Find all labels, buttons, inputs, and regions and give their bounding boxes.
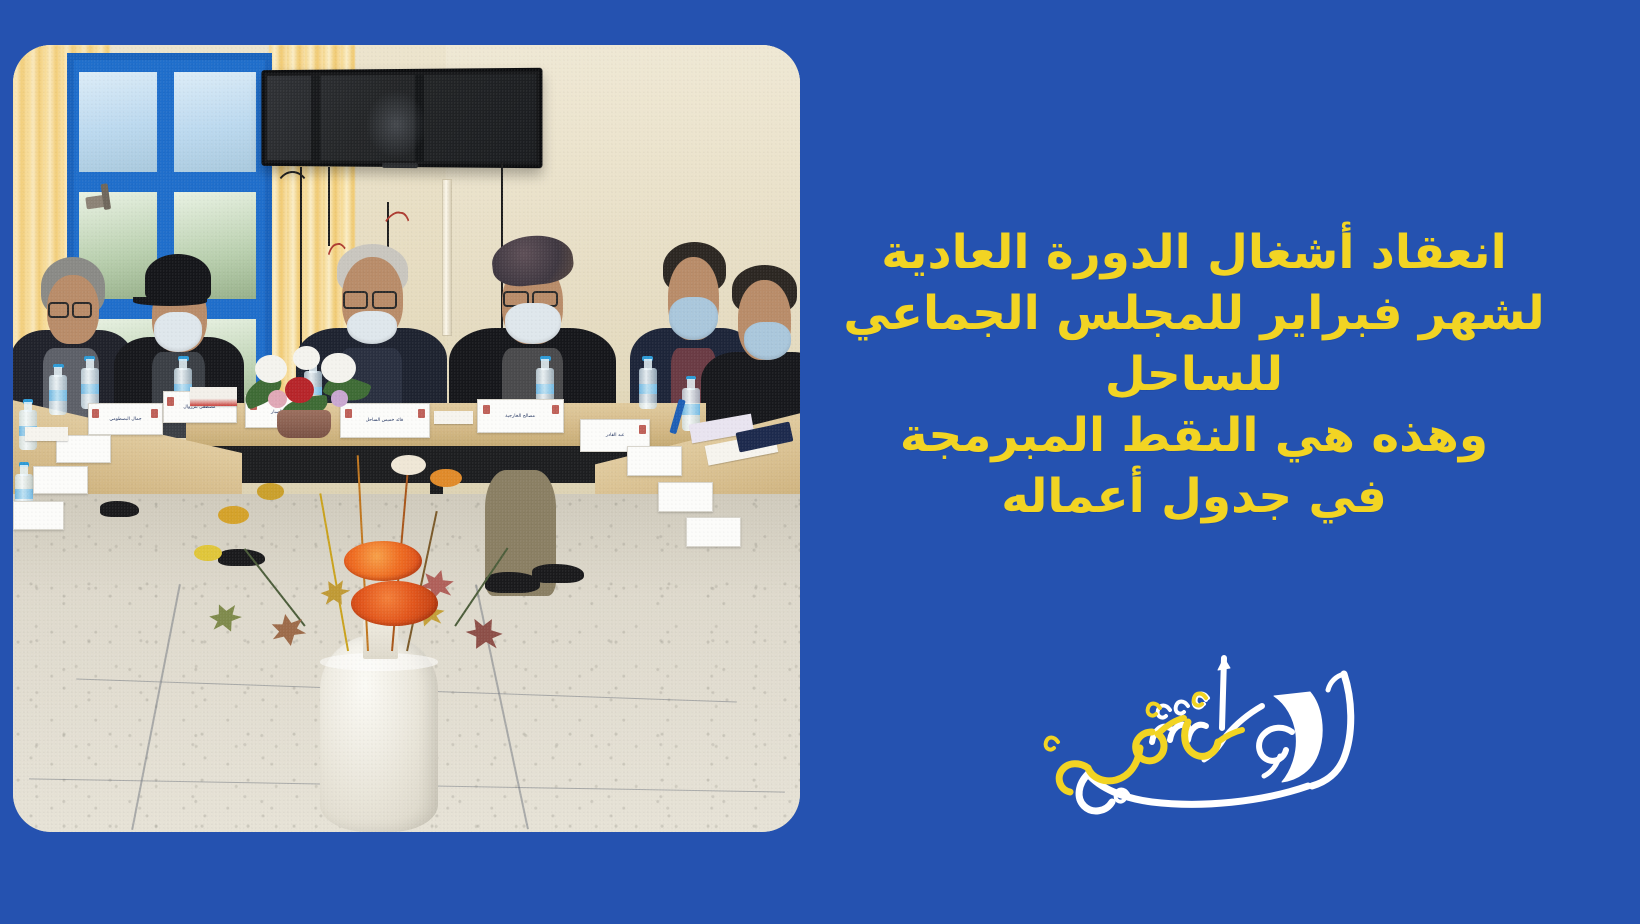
wall-conduit [442,179,452,336]
baseball-cap [145,254,211,301]
window-handle [85,194,107,209]
nameplate: جمال البصطومي [88,403,163,434]
headline-line-5: في جدول أعماله [814,466,1574,527]
headline-line-1: انعقاد أشغال الدورة العادية [814,222,1574,283]
table-bouquet [233,328,390,438]
document-paper [190,387,237,406]
headline-line-2: لشهر فبراير للمجلس الجماعي [814,283,1574,344]
news-card: محمد الصبار قائد خميس الساحل مصالح الخار… [0,0,1640,924]
floor-bouquet [186,446,580,651]
face-mask [744,322,791,360]
shoe [100,501,139,517]
water-bottle [81,356,99,410]
document-paper [434,411,473,424]
nameplate [33,466,88,494]
headline-line-4: وهذه هي النقط المبرمجة [814,405,1574,466]
water-bottle [639,356,657,410]
nameplate [627,446,682,476]
nameplate-text: عبد القادر [606,432,625,438]
nameplate [13,501,64,529]
nameplate [658,482,713,512]
headline-line-3: للساحل [814,344,1574,405]
nameplate-text: جمال البصطومي [109,416,141,422]
brand-logo: العرائش نيوز [992,636,1372,821]
document-paper [25,427,68,441]
water-bottle [19,399,36,450]
headline-text: انعقاد أشغال الدورة العادية لشهر فبراير … [814,222,1574,527]
photo-scene: محمد الصبار قائد خميس الساحل مصالح الخار… [13,45,800,832]
wall-tv [261,67,542,168]
nameplate [686,517,741,547]
water-bottle [49,364,67,415]
nameplate: مصالح الخارجية [477,399,564,433]
face-mask [154,312,202,352]
meeting-photo: محمد الصبار قائد خميس الساحل مصالح الخار… [13,45,800,832]
face-mask [505,303,562,344]
nameplate-text: مصالح الخارجية [506,413,536,419]
